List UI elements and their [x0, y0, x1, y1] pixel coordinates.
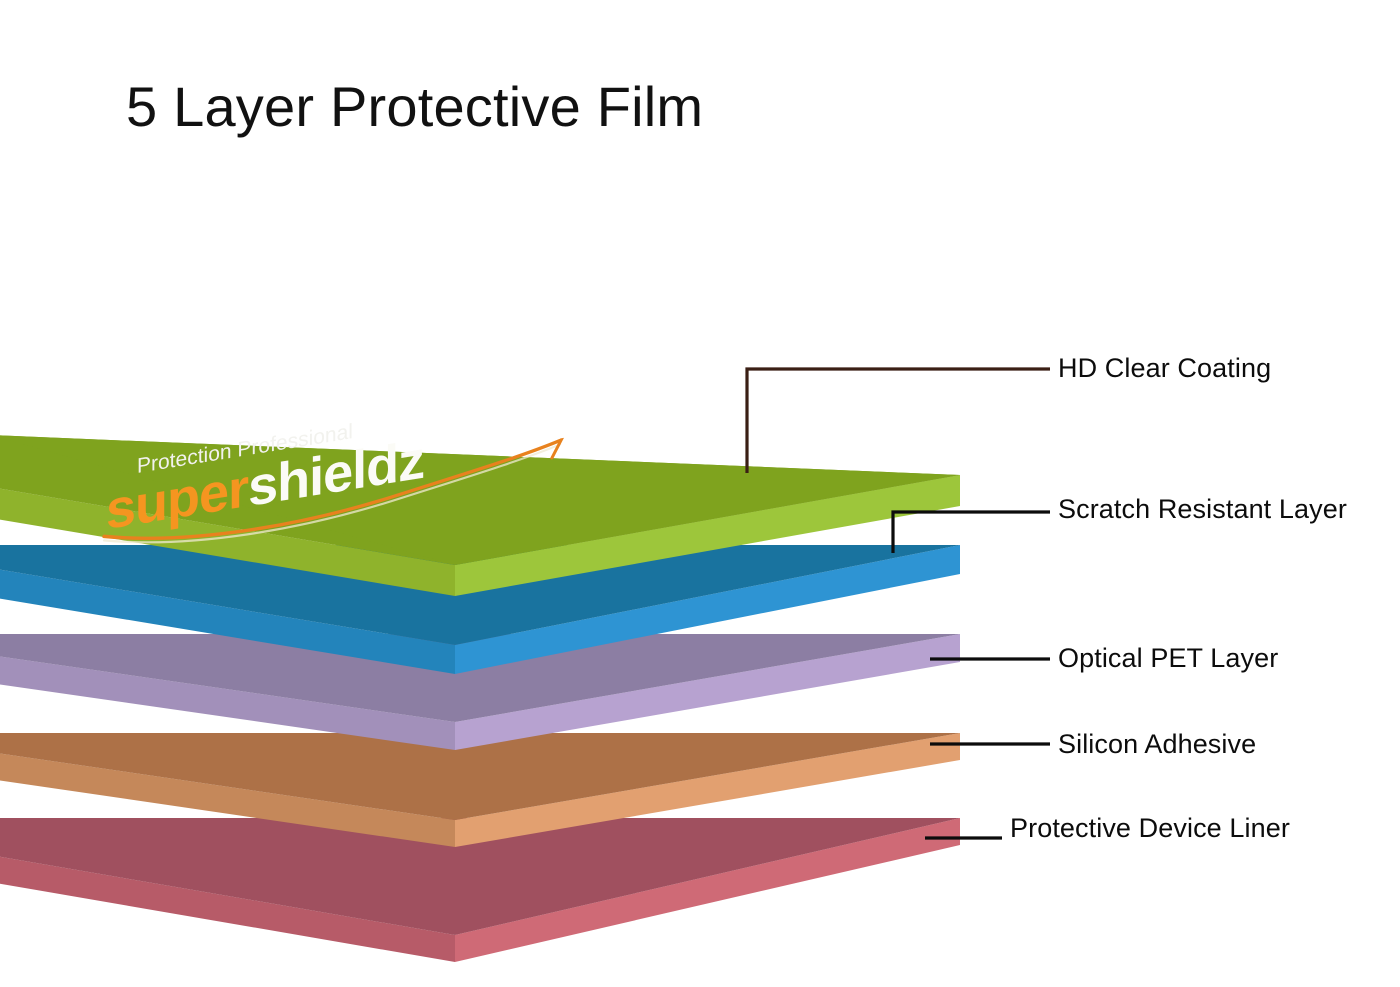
label-optical-pet-layer: Optical PET Layer — [1058, 643, 1278, 674]
label-hd-clear-coating: HD Clear Coating — [1058, 353, 1271, 384]
label-protective-device-liner: Protective Device Liner — [1010, 813, 1290, 844]
label-silicon-adhesive: Silicon Adhesive — [1058, 729, 1256, 760]
diagram-canvas: 5 Layer Protective Film — [0, 0, 1400, 987]
leader-hd-clear-coating — [747, 369, 1050, 473]
label-scratch-resistant-layer: Scratch Resistant Layer — [1058, 494, 1347, 525]
